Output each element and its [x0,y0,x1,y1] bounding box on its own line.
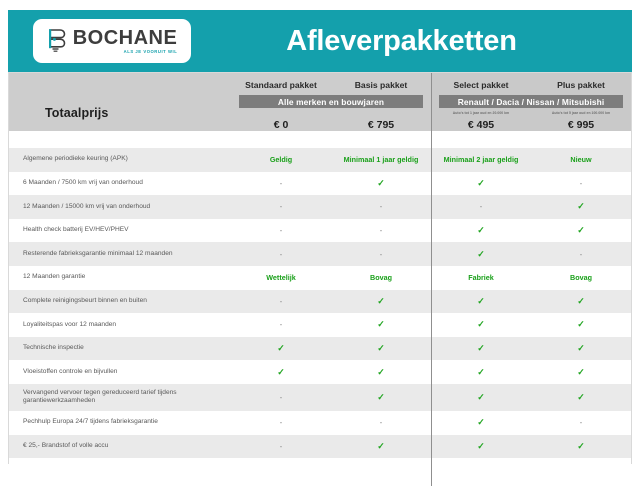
row-section-right: ✓✓ [431,290,631,314]
cell-check: ✓ [331,435,431,459]
cell-dash: - [231,219,331,243]
check-icon: ✓ [477,442,485,451]
row-section-right: ✓✓ [431,435,631,459]
check-icon: ✓ [377,344,385,353]
cell-dash: - [231,313,331,337]
price-basis: € 795 [331,119,431,131]
row-section-left: -- [231,242,431,266]
cell-check: ✓ [431,172,531,196]
column-title-plus: Plus pakket [531,80,631,90]
cell-text: Bovag [331,266,431,290]
cell-text: Fabriek [431,266,531,290]
section-divider [431,195,432,219]
section-divider [431,219,432,243]
check-icon: ✓ [477,250,485,259]
check-icon: ✓ [377,368,385,377]
row-section-left: -✓ [231,313,431,337]
bottom-left-pad [9,458,231,486]
cell-check: ✓ [431,384,531,411]
section-divider [431,435,432,459]
check-icon: ✓ [277,344,285,353]
row-section-right: ✓✓ [431,360,631,384]
cell-check: ✓ [431,219,531,243]
cell-check: ✓ [531,219,631,243]
section-divider [431,266,432,290]
bottom-left-sec [231,458,431,486]
packages-comparison-table: Standaard pakket Basis pakket Alle merke… [8,72,632,464]
price-select: € 495 [431,119,531,131]
row-label: € 25,- Brandstof of volle accu [9,435,231,459]
check-icon: ✓ [477,393,485,402]
header-left-pad [9,73,231,131]
table-row: 12 Maanden / 15000 km vrij van onderhoud… [9,195,631,219]
section-divider [431,458,432,486]
check-icon: ✓ [377,442,385,451]
row-label: Complete reinigingsbeurt binnen en buite… [9,290,231,314]
check-icon: ✓ [477,418,485,427]
cell-dash: - [231,195,331,219]
row-section-left: -✓ [231,172,431,196]
check-icon: ✓ [477,226,485,235]
row-section-right: ✓✓ [431,219,631,243]
afleverpakketten-page: BOCHANE ALS JE VOORUIT WIL Afleverpakket… [0,0,640,480]
section-divider [431,242,432,266]
price-standaard: € 0 [231,119,331,131]
table-header-zone: Standaard pakket Basis pakket Alle merke… [9,73,631,131]
row-section-left: ✓✓ [231,360,431,384]
row-label: Pechhulp Europa 24/7 tijdens fabrieksgar… [9,411,231,435]
row-label: Vloeistoffen controle en bijvullen [9,360,231,384]
cell-check: ✓ [331,172,431,196]
column-note-select: Auto's tot 1 jaar oud en 20.000 km [431,111,531,115]
cell-dash: - [531,242,631,266]
table-row: Loyaliteitspas voor 12 maanden-✓✓✓ [9,313,631,337]
cell-text: Minimaal 1 jaar geldig [331,148,431,172]
table-row: Pechhulp Europa 24/7 tijdens fabrieksgar… [9,411,631,435]
check-icon: ✓ [577,368,585,377]
check-icon: ✓ [377,179,385,188]
table-rows: Algemene periodieke keuring (APK)GeldigM… [9,148,631,458]
table-bottom-strip [9,458,631,486]
spacer-left-sec [231,131,431,148]
section-divider [431,337,432,361]
row-section-left: -- [231,219,431,243]
row-section-right: ✓✓ [431,384,631,411]
cell-text: Bovag [531,266,631,290]
row-section-right: -✓ [431,195,631,219]
check-icon: ✓ [577,442,585,451]
cell-check: ✓ [331,384,431,411]
row-section-right: Minimaal 2 jaar geldigNieuw [431,148,631,172]
cell-check: ✓ [431,337,531,361]
row-label: Loyaliteitspas voor 12 maanden [9,313,231,337]
cell-dash: - [331,195,431,219]
check-icon: ✓ [477,368,485,377]
row-section-right: FabriekBovag [431,266,631,290]
check-icon: ✓ [577,320,585,329]
cell-dash: - [231,384,331,411]
row-label: 6 Maanden / 7500 km vrij van onderhoud [9,172,231,196]
check-icon: ✓ [577,393,585,402]
row-section-right: ✓✓ [431,313,631,337]
cell-dash: - [231,411,331,435]
cell-dash: - [331,219,431,243]
cell-check: ✓ [431,435,531,459]
cell-check: ✓ [431,313,531,337]
check-icon: ✓ [577,297,585,306]
bottom-right-sec [431,458,631,486]
cell-check: ✓ [331,337,431,361]
column-title-standaard: Standaard pakket [231,80,331,90]
cell-check: ✓ [331,360,431,384]
cell-text: Geldig [231,148,331,172]
table-row: Vervangend vervoer tegen gereduceerd tar… [9,384,631,411]
section-left-bar-label: Alle merken en bouwjaren [239,95,423,108]
bochane-logo[interactable]: BOCHANE ALS JE VOORUIT WIL [33,19,191,63]
cell-check: ✓ [531,337,631,361]
cell-check: ✓ [231,337,331,361]
row-section-left: -- [231,411,431,435]
table-row: Algemene periodieke keuring (APK)GeldigM… [9,148,631,172]
cell-dash: - [331,242,431,266]
check-icon: ✓ [577,344,585,353]
cell-dash: - [231,242,331,266]
cell-check: ✓ [531,290,631,314]
cell-dash: - [231,172,331,196]
row-section-left: -✓ [231,290,431,314]
row-section-left: -✓ [231,435,431,459]
section-divider [431,73,432,131]
check-icon: ✓ [577,226,585,235]
spacer-right-sec [431,131,631,148]
check-icon: ✓ [477,320,485,329]
cell-check: ✓ [531,360,631,384]
row-label: Resterende fabrieksgarantie minimaal 12 … [9,242,231,266]
check-icon: ✓ [577,202,585,211]
row-label: Algemene periodieke keuring (APK) [9,148,231,172]
cell-check: ✓ [531,435,631,459]
section-divider [431,360,432,384]
cell-text: Wettelijk [231,266,331,290]
cell-text: Minimaal 2 jaar geldig [431,148,531,172]
row-label: 12 Maanden / 15000 km vrij van onderhoud [9,195,231,219]
row-section-left: WettelijkBovag [231,266,431,290]
cell-check: ✓ [231,360,331,384]
table-row: Resterende fabrieksgarantie minimaal 12 … [9,242,631,266]
row-label: Health check batterij EV/HEV/PHEV [9,219,231,243]
cell-dash: - [531,172,631,196]
check-icon: ✓ [277,368,285,377]
section-divider [431,148,432,172]
row-label: Vervangend vervoer tegen gereduceerd tar… [9,384,231,411]
row-section-right: ✓- [431,411,631,435]
column-note-plus: Auto's tot 5 jaar oud en 100.000 km [531,111,631,115]
check-icon: ✓ [377,297,385,306]
table-row: Health check batterij EV/HEV/PHEV--✓✓ [9,219,631,243]
cell-check: ✓ [431,242,531,266]
row-section-right: ✓✓ [431,337,631,361]
table-row: 12 Maanden garantieWettelijkBovagFabriek… [9,266,631,290]
section-right-bar-label: Renault / Dacia / Nissan / Mitsubishi [439,95,623,108]
table-row: € 25,- Brandstof of volle accu-✓✓✓ [9,435,631,459]
spacer-left-pad [9,131,231,148]
check-icon: ✓ [377,393,385,402]
row-section-right: ✓- [431,172,631,196]
table-row: Technische inspectie✓✓✓✓ [9,337,631,361]
cell-check: ✓ [531,313,631,337]
table-row: Vloeistoffen controle en bijvullen✓✓✓✓ [9,360,631,384]
cell-dash: - [531,411,631,435]
cell-check: ✓ [431,411,531,435]
cell-check: ✓ [531,195,631,219]
section-right: Select pakket Plus pakket Renault / Daci… [431,73,631,131]
column-title-select: Select pakket [431,80,531,90]
section-divider [431,290,432,314]
row-section-right: ✓- [431,242,631,266]
page-header: BOCHANE ALS JE VOORUIT WIL Afleverpakket… [8,10,632,72]
cell-text: Nieuw [531,148,631,172]
cell-check: ✓ [331,290,431,314]
table-row: Complete reinigingsbeurt binnen en buite… [9,290,631,314]
cell-check: ✓ [531,384,631,411]
row-label: 12 Maanden garantie [9,266,231,290]
section-divider [431,131,432,148]
section-divider [431,384,432,411]
price-plus: € 995 [531,119,631,131]
bochane-mark-icon [47,28,67,54]
row-section-left: ✓✓ [231,337,431,361]
check-icon: ✓ [477,297,485,306]
section-left: Standaard pakket Basis pakket Alle merke… [231,73,431,131]
cell-check: ✓ [431,360,531,384]
cell-check: ✓ [431,290,531,314]
section-divider [431,313,432,337]
cell-check: ✓ [331,313,431,337]
cell-dash: - [331,411,431,435]
cell-dash: - [431,195,531,219]
cell-dash: - [231,290,331,314]
cell-dash: - [231,435,331,459]
header-spacer-row [9,131,631,148]
section-divider [431,411,432,435]
logo-tagline: ALS JE VOORUIT WIL [124,50,178,54]
total-price-label: Totaalprijs [45,106,108,120]
row-section-left: -✓ [231,384,431,411]
check-icon: ✓ [377,320,385,329]
row-section-left: -- [231,195,431,219]
row-section-left: GeldigMinimaal 1 jaar geldig [231,148,431,172]
row-label: Technische inspectie [9,337,231,361]
logo-wordmark: BOCHANE [73,28,178,48]
check-icon: ✓ [477,344,485,353]
table-row: 6 Maanden / 7500 km vrij van onderhoud-✓… [9,172,631,196]
check-icon: ✓ [477,179,485,188]
section-divider [431,172,432,196]
page-title: Afleverpakketten [191,25,632,58]
column-title-basis: Basis pakket [331,80,431,90]
